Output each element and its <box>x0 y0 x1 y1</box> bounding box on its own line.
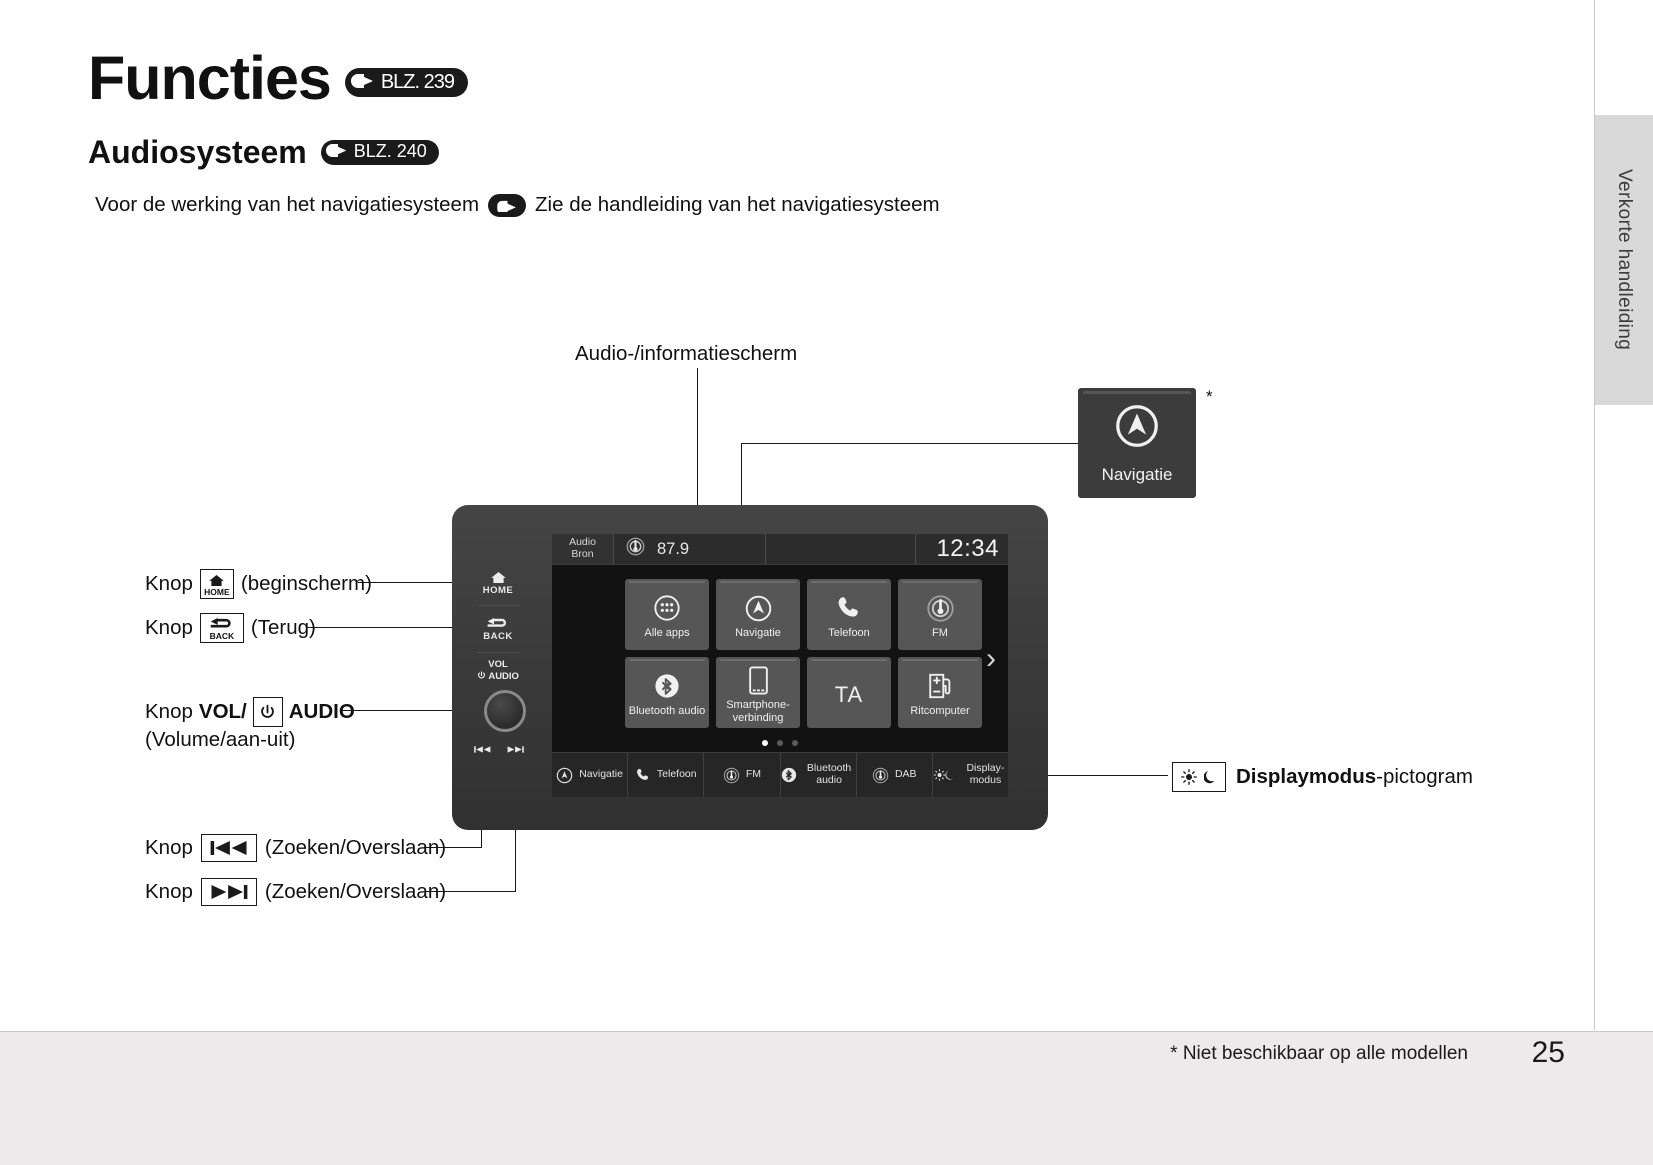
callout-display-mode-icon: Displaymodus-pictogram <box>1172 762 1473 792</box>
manual-page: Verkorte handleiding Functies BLZ. 239 A… <box>0 0 1653 1165</box>
apps-grid-icon <box>653 593 681 623</box>
next-page-chevron-icon[interactable]: › <box>986 644 996 674</box>
callout-display-bold: Displaymodus <box>1236 765 1376 788</box>
radio-waves-icon <box>626 537 645 561</box>
tile-label: Smartphone-verbinding <box>718 699 798 723</box>
radio-waves-icon <box>926 593 955 623</box>
callout-next-prefix: Knop <box>145 879 193 905</box>
footnote: * Niet beschikbaar op alle modellen <box>1170 1043 1468 1065</box>
navigatie-callout-tile[interactable]: Navigatie <box>1078 388 1196 498</box>
display-mode-icon <box>1172 762 1226 792</box>
intro-text-before: Voor de werking van het navigatiesysteem <box>95 193 479 218</box>
bottom-bar-label: DAB <box>895 769 917 781</box>
callout-home-suffix: (beginscherm) <box>241 571 372 597</box>
callout-vol-prefix: Knop <box>145 699 193 725</box>
page-dot-1[interactable] <box>762 740 768 746</box>
bluetooth-icon <box>781 767 797 783</box>
tile-label: Bluetooth audio <box>629 705 705 717</box>
section-title: Audiosysteem BLZ. 240 <box>88 136 439 168</box>
power-icon <box>477 671 488 682</box>
leader-line-navigatie-h <box>741 443 1080 444</box>
page-number: 25 <box>1532 1036 1565 1070</box>
section-title-text: Audiosysteem <box>88 136 307 168</box>
navigation-arrow-icon <box>744 593 773 623</box>
button-divider <box>478 605 520 606</box>
bottom-bar-label: FM <box>746 769 761 781</box>
page-title-text: Functies <box>88 48 331 109</box>
arrow-right-icon <box>326 142 350 162</box>
callout-vol-bold: VOL/ <box>199 699 247 725</box>
leader-line-back <box>307 627 474 628</box>
tile-ritcomputer[interactable]: Ritcomputer <box>898 657 982 728</box>
volume-knob[interactable] <box>484 690 526 732</box>
audio-source-indicator[interactable]: Audio Bron <box>552 534 614 564</box>
vol-audio-label: VOL AUDIO <box>470 660 526 683</box>
callout-back-prefix: Knop <box>145 615 193 641</box>
radio-waves-icon <box>872 767 889 784</box>
bottom-bar-bluetooth-audio[interactable]: Bluetooth audio <box>781 753 857 797</box>
home-key-label: HOME <box>204 588 230 597</box>
physical-home-button[interactable]: HOME <box>474 566 522 600</box>
tile-alle-apps[interactable]: Alle apps <box>625 579 709 650</box>
right-rail <box>1595 405 1653 1035</box>
callout-seek-prev-button: Knop (Zoeken/Overslaan) <box>145 834 446 862</box>
radio-waves-icon <box>723 767 740 784</box>
clock: 12:34 <box>916 534 1008 564</box>
tile-label: Alle apps <box>644 627 689 639</box>
navigation-arrow-icon <box>1112 401 1162 456</box>
audio-source-line2: Bron <box>571 549 593 561</box>
page-indicator-dots <box>552 740 1008 746</box>
callout-home-prefix: Knop <box>145 571 193 597</box>
back-key-label: BACK <box>210 632 235 641</box>
app-tile-grid: Alle apps Navigatie <box>625 579 982 728</box>
home-key-icon: HOME <box>200 569 234 599</box>
bottom-bar-dab[interactable]: DAB <box>857 753 933 797</box>
tile-ta[interactable]: TA <box>807 657 891 728</box>
page-ref-badge-functies: BLZ. 239 <box>345 68 468 97</box>
intro-line: Voor de werking van het navigatiesysteem… <box>95 193 940 218</box>
tile-label: Ritcomputer <box>910 705 969 717</box>
page-ref-badge-audiosysteem: BLZ. 240 <box>321 140 439 165</box>
ta-text: TA <box>835 682 863 708</box>
physical-back-label: BACK <box>483 631 512 642</box>
bluetooth-icon <box>654 671 680 701</box>
display-mode-icon <box>933 768 957 782</box>
tile-navigatie[interactable]: Navigatie <box>716 579 800 650</box>
home-grid-area: Alle apps Navigatie <box>552 565 1008 752</box>
callout-home-button: Knop HOME (beginscherm) <box>145 569 372 599</box>
bottom-bar-navigatie[interactable]: Navigatie <box>552 753 628 797</box>
page-ref-text: BLZ. 240 <box>354 142 427 162</box>
asterisk-marker: * <box>1206 387 1213 407</box>
phone-icon <box>835 593 863 623</box>
navigatie-callout-label: Navigatie <box>1102 465 1173 485</box>
bottom-bar-telefoon[interactable]: Telefoon <box>628 753 704 797</box>
skip-previous-icon <box>201 834 257 862</box>
callout-seek-next-button: Knop (Zoeken/Overslaan) <box>145 878 446 906</box>
side-tab-label: Verkorte handleiding <box>1595 115 1653 405</box>
navigation-arrow-icon <box>556 767 573 784</box>
frequency-display: 87.9 <box>614 534 766 564</box>
tile-fm[interactable]: FM <box>898 579 982 650</box>
button-divider <box>478 652 520 653</box>
tile-telefoon[interactable]: Telefoon <box>807 579 891 650</box>
right-rail-divider <box>1594 0 1595 1030</box>
smartphone-icon <box>749 665 768 695</box>
tile-smartphone-verbinding[interactable]: Smartphone-verbinding <box>716 657 800 728</box>
callout-back-button: Knop BACK (Terug) <box>145 613 316 643</box>
callout-prev-prefix: Knop <box>145 835 193 861</box>
screen-status-bar: Audio Bron 87.9 12:34 <box>552 534 1008 565</box>
bottom-bar-label: Telefoon <box>657 769 697 781</box>
tile-bluetooth-audio[interactable]: Bluetooth audio <box>625 657 709 728</box>
back-key-icon: BACK <box>200 613 244 643</box>
callout-back-suffix: (Terug) <box>251 615 316 641</box>
arrow-right-icon <box>351 71 377 93</box>
tile-label: Navigatie <box>735 627 781 639</box>
bottom-bar-display-modus[interactable]: Display-modus <box>933 753 1008 797</box>
vol-label-line1: VOL <box>488 659 508 670</box>
physical-home-label: HOME <box>483 585 514 596</box>
page-ref-text: BLZ. 239 <box>381 71 454 93</box>
bottom-bar-label: Display-modus <box>963 763 1008 787</box>
page-dot-2[interactable] <box>777 740 783 746</box>
screen-bottom-bar: Navigatie Telefoon FM Bluetooth audio <box>552 752 1008 797</box>
status-bar-spacer <box>766 534 916 564</box>
callout-next-suffix: (Zoeken/Overslaan) <box>265 879 446 905</box>
callout-display-rest: -pictogram <box>1376 765 1473 788</box>
bottom-bar-label: Navigatie <box>579 769 623 781</box>
bottom-bar-label: Bluetooth audio <box>803 763 856 787</box>
callout-prev-suffix: (Zoeken/Overslaan) <box>265 835 446 861</box>
callout-vol-subtitle: (Volume/aan-uit) <box>145 727 355 753</box>
fuel-pump-icon <box>927 671 954 701</box>
audio-information-screen[interactable]: Audio Bron 87.9 12:34 <box>552 534 1008 797</box>
callout-audio-info-screen: Audio-/informatiescherm <box>575 341 797 367</box>
tile-label: Telefoon <box>828 627 870 639</box>
physical-skip-prev-button[interactable] <box>473 744 492 757</box>
physical-back-button[interactable]: BACK <box>474 613 522 647</box>
page-title: Functies BLZ. 239 <box>88 48 468 109</box>
tile-label: FM <box>932 627 948 639</box>
page-dot-3[interactable] <box>792 740 798 746</box>
intro-text-after: Zie de handleiding van het navigatiesyst… <box>535 193 940 218</box>
vol-label-line2: AUDIO <box>488 671 519 682</box>
phone-icon <box>635 767 651 783</box>
frequency-value: 87.9 <box>657 540 689 559</box>
skip-next-icon <box>201 878 257 906</box>
physical-skip-next-button[interactable] <box>506 744 525 757</box>
callout-audio-bold: AUDIO <box>289 699 355 725</box>
arrow-right-icon <box>488 194 526 217</box>
callout-vol-audio-button: Knop VOL/ AUDIO (Volume/aan-uit) <box>145 697 355 753</box>
power-key-icon <box>253 697 283 727</box>
bottom-bar-fm[interactable]: FM <box>704 753 780 797</box>
